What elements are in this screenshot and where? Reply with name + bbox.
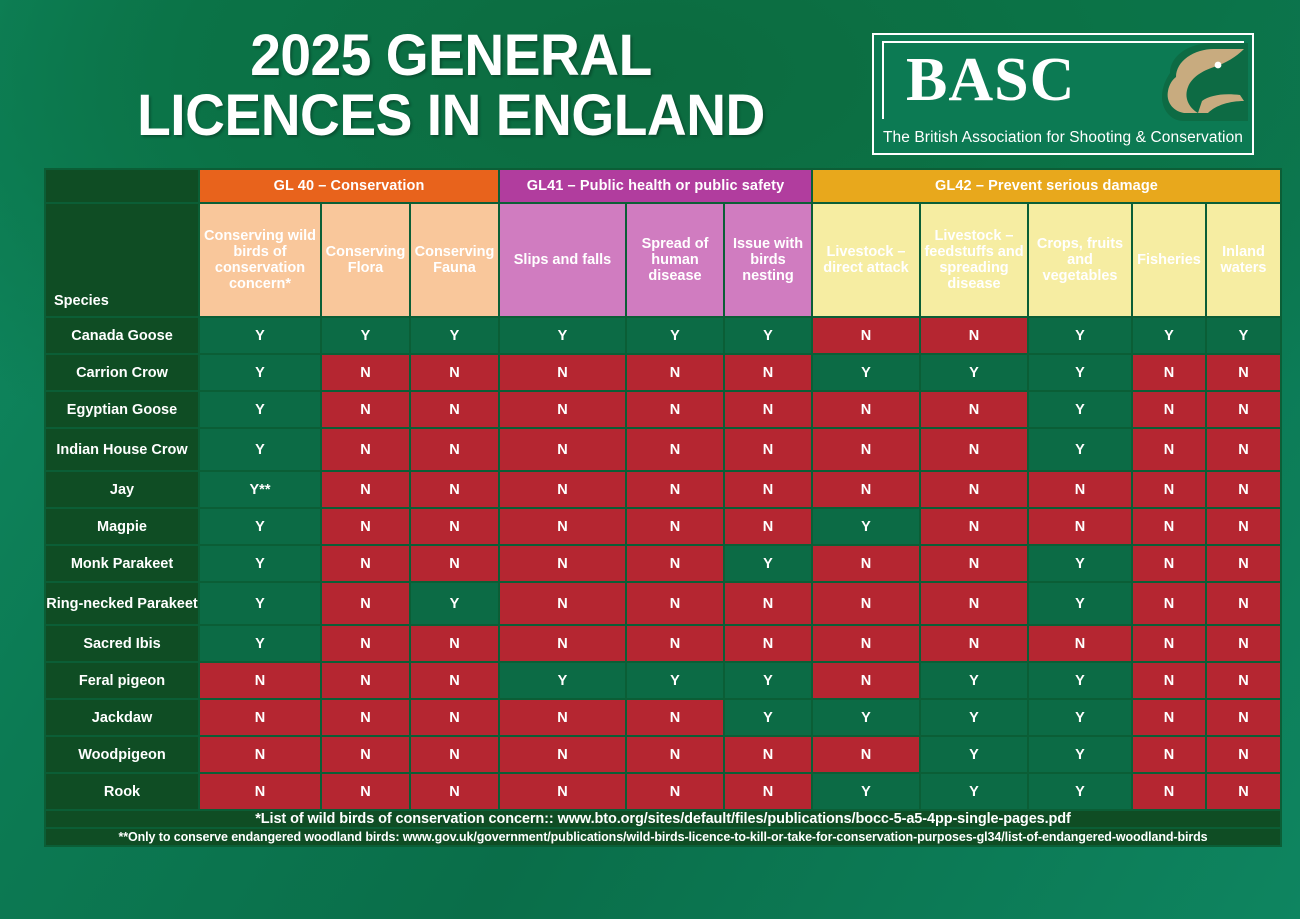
table-foot: *List of wild birds of conservation conc…: [46, 811, 1280, 845]
cell-yes: Y: [725, 318, 811, 353]
species-name-cell: Ring-necked Parakeet: [46, 583, 198, 624]
cell-no: N: [627, 700, 723, 735]
cell-yes: Y: [200, 318, 320, 353]
group-header-gl42: GL42 – Prevent serious damage: [813, 170, 1280, 202]
cell-no: N: [322, 700, 409, 735]
cell-yes: Y: [725, 700, 811, 735]
cell-no: N: [322, 737, 409, 772]
table-head: GL 40 – ConservationGL41 – Public health…: [46, 170, 1280, 316]
species-name-cell: Magpie: [46, 509, 198, 544]
cell-no: N: [411, 355, 498, 390]
cell-no: N: [1133, 700, 1205, 735]
page-header: 2025 GENERAL LICENCES IN ENGLAND BASC Th…: [0, 0, 1300, 168]
cell-no: N: [627, 583, 723, 624]
cell-yes: Y: [1029, 429, 1131, 470]
cell-no: N: [1207, 626, 1280, 661]
cell-no: N: [411, 737, 498, 772]
table-row: JayY**NNNNNNNNNN: [46, 472, 1280, 507]
cell-no: N: [411, 429, 498, 470]
cell-no: N: [411, 700, 498, 735]
cell-no: N: [1029, 509, 1131, 544]
cell-yes: Y: [200, 626, 320, 661]
cell-yes: Y: [1029, 700, 1131, 735]
cell-yes: Y: [1029, 737, 1131, 772]
cell-no: N: [921, 392, 1027, 427]
cell-no: N: [500, 429, 625, 470]
table-row: RookNNNNNNYYYNN: [46, 774, 1280, 809]
cell-no: N: [322, 392, 409, 427]
cell-yes: Y**: [200, 472, 320, 507]
cell-no: N: [500, 509, 625, 544]
cell-no: N: [500, 355, 625, 390]
cell-yes: Y: [1133, 318, 1205, 353]
cell-no: N: [813, 663, 919, 698]
cell-no: N: [725, 626, 811, 661]
cell-yes: Y: [200, 583, 320, 624]
table-row: Monk ParakeetYNNNNYNNYNN: [46, 546, 1280, 581]
cell-yes: Y: [200, 509, 320, 544]
column-header-3: Slips and falls: [500, 204, 625, 316]
column-header-0: Conserving wild birds of conservation co…: [200, 204, 320, 316]
cell-yes: Y: [725, 663, 811, 698]
cell-no: N: [322, 626, 409, 661]
cell-no: N: [1029, 472, 1131, 507]
column-header-8: Crops, fruits and vegetables: [1029, 204, 1131, 316]
cell-no: N: [500, 472, 625, 507]
table-row: Ring-necked ParakeetYNYNNNNNYNN: [46, 583, 1280, 624]
table-row: JackdawNNNNNYYYYNN: [46, 700, 1280, 735]
cell-no: N: [921, 429, 1027, 470]
cell-no: N: [813, 583, 919, 624]
cell-no: N: [1207, 546, 1280, 581]
cell-no: N: [627, 355, 723, 390]
cell-no: N: [813, 737, 919, 772]
cell-yes: Y: [627, 318, 723, 353]
cell-yes: Y: [725, 546, 811, 581]
cell-no: N: [1207, 472, 1280, 507]
cell-no: N: [500, 392, 625, 427]
cell-no: N: [921, 626, 1027, 661]
species-name-cell: Canada Goose: [46, 318, 198, 353]
logo-frame: BASC: [882, 41, 1244, 119]
cell-yes: Y: [813, 700, 919, 735]
species-name-cell: Rook: [46, 774, 198, 809]
cell-yes: Y: [813, 355, 919, 390]
cell-no: N: [500, 546, 625, 581]
cell-yes: Y: [1029, 774, 1131, 809]
cell-no: N: [500, 700, 625, 735]
cell-no: N: [627, 626, 723, 661]
species-name-cell: Egyptian Goose: [46, 392, 198, 427]
footnote-2: **Only to conserve endangered woodland b…: [46, 829, 1280, 845]
species-name-cell: Monk Parakeet: [46, 546, 198, 581]
cell-yes: Y: [500, 318, 625, 353]
cell-no: N: [1207, 663, 1280, 698]
cell-no: N: [627, 392, 723, 427]
cell-yes: Y: [1029, 663, 1131, 698]
table-row: Carrion CrowYNNNNNYYYNN: [46, 355, 1280, 390]
cell-no: N: [1133, 392, 1205, 427]
cell-no: N: [725, 429, 811, 470]
table-row: MagpieYNNNNNYNNNN: [46, 509, 1280, 544]
title-line-2: LICENCES IN ENGLAND: [66, 86, 836, 146]
cell-no: N: [813, 392, 919, 427]
cell-yes: Y: [1029, 355, 1131, 390]
cell-no: N: [813, 429, 919, 470]
cell-no: N: [813, 546, 919, 581]
cell-no: N: [200, 700, 320, 735]
cell-no: N: [921, 546, 1027, 581]
cell-no: N: [921, 318, 1027, 353]
cell-yes: Y: [921, 774, 1027, 809]
cell-no: N: [411, 626, 498, 661]
cell-yes: Y: [1029, 546, 1131, 581]
group-header-row: GL 40 – ConservationGL41 – Public health…: [46, 170, 1280, 202]
cell-yes: Y: [813, 509, 919, 544]
duck-head-icon: [1118, 43, 1248, 121]
cell-no: N: [1207, 355, 1280, 390]
species-name-cell: Carrion Crow: [46, 355, 198, 390]
column-header-5: Issue with birds nesting: [725, 204, 811, 316]
cell-no: N: [627, 429, 723, 470]
group-header-gl40: GL 40 – Conservation: [200, 170, 498, 202]
species-name-cell: Feral pigeon: [46, 663, 198, 698]
cell-no: N: [1029, 626, 1131, 661]
species-name-cell: Jackdaw: [46, 700, 198, 735]
cell-yes: Y: [200, 546, 320, 581]
cell-no: N: [627, 472, 723, 507]
general-licences-table: GL 40 – ConservationGL41 – Public health…: [44, 168, 1282, 847]
cell-no: N: [725, 509, 811, 544]
logo-wordmark: BASC: [906, 47, 1075, 113]
cell-no: N: [322, 355, 409, 390]
logo-tagline: The British Association for Shooting & C…: [874, 129, 1252, 147]
cell-no: N: [1133, 583, 1205, 624]
table-row: Indian House CrowYNNNNNNNYNN: [46, 429, 1280, 470]
cell-yes: Y: [1207, 318, 1280, 353]
cell-yes: Y: [627, 663, 723, 698]
cell-yes: Y: [411, 583, 498, 624]
cell-no: N: [411, 472, 498, 507]
cell-no: N: [200, 663, 320, 698]
cell-no: N: [411, 546, 498, 581]
cell-yes: Y: [500, 663, 625, 698]
cell-no: N: [322, 429, 409, 470]
cell-no: N: [1207, 429, 1280, 470]
cell-no: N: [1133, 546, 1205, 581]
column-header-species: Species: [46, 204, 198, 316]
species-name-cell: Indian House Crow: [46, 429, 198, 470]
cell-yes: Y: [813, 774, 919, 809]
cell-yes: Y: [1029, 392, 1131, 427]
footnote-row: *List of wild birds of conservation conc…: [46, 811, 1280, 827]
cell-yes: Y: [1029, 318, 1131, 353]
cell-no: N: [200, 774, 320, 809]
cell-yes: Y: [1029, 583, 1131, 624]
cell-yes: Y: [921, 663, 1027, 698]
cell-no: N: [921, 472, 1027, 507]
cell-no: N: [411, 663, 498, 698]
cell-no: N: [322, 583, 409, 624]
cell-no: N: [1133, 429, 1205, 470]
cell-no: N: [411, 392, 498, 427]
cell-no: N: [1207, 509, 1280, 544]
cell-no: N: [921, 583, 1027, 624]
cell-no: N: [1207, 700, 1280, 735]
cell-no: N: [200, 737, 320, 772]
cell-no: N: [725, 472, 811, 507]
column-header-6: Livestock – direct attack: [813, 204, 919, 316]
page-title: 2025 GENERAL LICENCES IN ENGLAND: [46, 26, 856, 146]
table-row: Sacred IbisYNNNNNNNNNN: [46, 626, 1280, 661]
cell-no: N: [725, 774, 811, 809]
cell-no: N: [322, 509, 409, 544]
cell-no: N: [1133, 355, 1205, 390]
cell-no: N: [725, 583, 811, 624]
cell-no: N: [1207, 392, 1280, 427]
species-name-cell: Sacred Ibis: [46, 626, 198, 661]
cell-no: N: [813, 318, 919, 353]
cell-no: N: [1133, 626, 1205, 661]
column-header-9: Fisheries: [1133, 204, 1205, 316]
cell-yes: Y: [322, 318, 409, 353]
cell-yes: Y: [921, 737, 1027, 772]
cell-no: N: [322, 472, 409, 507]
cell-no: N: [725, 737, 811, 772]
cell-no: N: [813, 626, 919, 661]
cell-no: N: [500, 774, 625, 809]
cell-yes: Y: [200, 429, 320, 470]
cell-yes: Y: [200, 392, 320, 427]
cell-no: N: [1133, 774, 1205, 809]
species-name-cell: Jay: [46, 472, 198, 507]
title-line-1: 2025 GENERAL: [66, 26, 836, 86]
species-name-cell: Woodpigeon: [46, 737, 198, 772]
cell-no: N: [322, 774, 409, 809]
cell-no: N: [322, 663, 409, 698]
cell-no: N: [1133, 663, 1205, 698]
group-header-gl41: GL41 – Public health or public safety: [500, 170, 811, 202]
cell-no: N: [411, 509, 498, 544]
cell-yes: Y: [200, 355, 320, 390]
table-row: Canada GooseYYYYYYNNYYY: [46, 318, 1280, 353]
cell-yes: Y: [921, 700, 1027, 735]
cell-no: N: [725, 355, 811, 390]
column-header-1: Conserving Flora: [322, 204, 409, 316]
column-header-2: Conserving Fauna: [411, 204, 498, 316]
cell-no: N: [1207, 737, 1280, 772]
cell-no: N: [725, 392, 811, 427]
cell-no: N: [627, 774, 723, 809]
cell-no: N: [1133, 472, 1205, 507]
table-row: Feral pigeonNNNYYYNYYNN: [46, 663, 1280, 698]
footnote-row: **Only to conserve endangered woodland b…: [46, 829, 1280, 845]
cell-no: N: [1133, 509, 1205, 544]
column-header-10: Inland waters: [1207, 204, 1280, 316]
column-header-4: Spread of human disease: [627, 204, 723, 316]
cell-no: N: [500, 626, 625, 661]
licence-table-wrap: GL 40 – ConservationGL41 – Public health…: [44, 168, 1256, 847]
cell-yes: Y: [411, 318, 498, 353]
cell-no: N: [500, 583, 625, 624]
footnote-1: *List of wild birds of conservation conc…: [46, 811, 1280, 827]
cell-no: N: [627, 509, 723, 544]
column-header-row: SpeciesConserving wild birds of conserva…: [46, 204, 1280, 316]
cell-no: N: [322, 546, 409, 581]
cell-no: N: [411, 774, 498, 809]
basc-logo: BASC The British Association for Shootin…: [872, 33, 1254, 155]
cell-no: N: [627, 737, 723, 772]
group-header-blank: [46, 170, 198, 202]
cell-no: N: [813, 472, 919, 507]
cell-yes: Y: [921, 355, 1027, 390]
cell-no: N: [1133, 737, 1205, 772]
cell-no: N: [921, 509, 1027, 544]
column-header-7: Livestock – feedstuffs and spreading dis…: [921, 204, 1027, 316]
table-row: WoodpigeonNNNNNNNYYNN: [46, 737, 1280, 772]
cell-no: N: [1207, 774, 1280, 809]
table-row: Egyptian GooseYNNNNNNNYNN: [46, 392, 1280, 427]
cell-no: N: [627, 546, 723, 581]
cell-no: N: [500, 737, 625, 772]
cell-no: N: [1207, 583, 1280, 624]
table-body: Canada GooseYYYYYYNNYYYCarrion CrowYNNNN…: [46, 318, 1280, 809]
